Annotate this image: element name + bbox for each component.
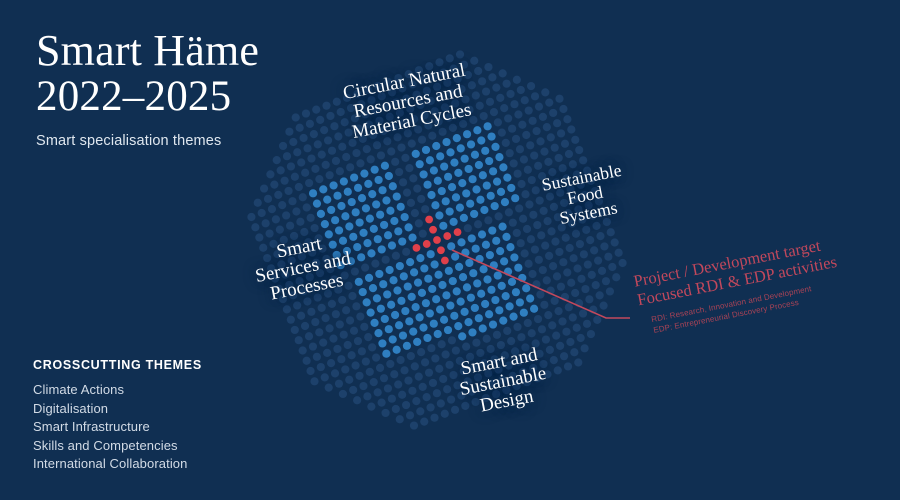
list-item: Digitalisation: [33, 400, 333, 419]
dim-dot: [506, 149, 514, 157]
bright-dot: [497, 188, 505, 196]
dim-dot: [564, 209, 572, 217]
bright-dot: [377, 305, 385, 313]
dim-dot: [346, 316, 354, 324]
dim-dot: [586, 236, 594, 244]
dim-dot: [503, 80, 511, 88]
dim-dot: [328, 300, 336, 308]
dim-dot: [585, 295, 593, 303]
dim-dot: [490, 108, 498, 116]
dim-dot: [468, 388, 476, 396]
bright-dot: [391, 311, 399, 319]
dim-dot: [543, 123, 551, 131]
dim-dot: [554, 307, 562, 315]
dim-dot: [301, 169, 309, 177]
bright-dot: [436, 305, 444, 313]
dim-dot: [564, 362, 572, 370]
dim-dot: [525, 106, 533, 114]
dim-dot: [443, 79, 451, 87]
bright-dot: [359, 288, 367, 296]
dim-dot: [341, 365, 349, 373]
bright-dot: [457, 144, 465, 152]
bright-dot: [325, 230, 333, 238]
bright-dot: [399, 331, 407, 339]
list-item: Skills and Competencies: [33, 437, 333, 456]
bright-dot: [366, 215, 374, 223]
dim-dot: [560, 199, 568, 207]
dim-dot: [573, 170, 581, 178]
dim-dot: [404, 376, 412, 384]
dim-dot: [300, 228, 308, 236]
dim-dot: [384, 78, 392, 86]
bright-dot: [442, 138, 450, 146]
dim-dot: [435, 365, 443, 373]
dim-dot: [402, 401, 410, 409]
bright-dot: [337, 261, 345, 269]
dim-dot: [384, 384, 392, 392]
bright-dot: [435, 211, 443, 219]
dim-dot: [295, 336, 303, 344]
dim-dot: [412, 397, 420, 405]
bright-dot: [463, 283, 471, 291]
dim-dot: [316, 269, 324, 277]
bright-dot: [373, 294, 381, 302]
dim-dot: [348, 351, 356, 359]
dim-dot: [335, 380, 343, 388]
bright-dot: [412, 303, 420, 311]
dim-dot: [369, 131, 377, 139]
dim-dot: [604, 253, 612, 261]
dim-dot: [307, 154, 315, 162]
bright-dot: [462, 189, 470, 197]
dim-dot: [393, 133, 401, 141]
dim-dot: [427, 97, 435, 105]
bright-dot: [431, 201, 439, 209]
dim-dot: [367, 155, 375, 163]
bright-dot: [522, 284, 530, 292]
dim-dot: [581, 285, 589, 293]
bright-dot: [472, 185, 480, 193]
bright-dot: [502, 233, 510, 241]
dim-dot: [552, 332, 560, 340]
dim-dot: [420, 418, 428, 426]
dim-dot: [289, 291, 297, 299]
dim-dot: [543, 276, 551, 284]
bright-dot: [459, 273, 467, 281]
dim-dot: [322, 255, 330, 263]
dim-dot: [305, 332, 313, 340]
dim-dot: [425, 369, 433, 377]
dim-dot: [544, 311, 552, 319]
bright-dot: [378, 245, 386, 253]
dim-dot: [394, 74, 402, 82]
dim-dot: [413, 185, 421, 193]
bright-dot: [472, 245, 480, 253]
bright-dot: [450, 312, 458, 320]
bright-dot: [487, 192, 495, 200]
bright-dot: [401, 213, 409, 221]
dim-dot: [484, 216, 492, 224]
dim-dot: [292, 267, 300, 275]
dim-dot: [522, 131, 530, 139]
dim-dot: [421, 358, 429, 366]
dim-dot: [429, 379, 437, 387]
dim-dot: [431, 354, 439, 362]
dim-dot: [570, 254, 578, 262]
dim-dot: [482, 394, 490, 402]
dim-dot: [435, 58, 443, 66]
bright-dot: [403, 342, 411, 350]
dim-dot: [307, 308, 315, 316]
dim-dot: [521, 343, 529, 351]
dim-dot: [288, 197, 296, 205]
dim-dot: [297, 312, 305, 320]
dim-dot: [415, 219, 423, 227]
dim-dot: [307, 214, 315, 222]
dim-dot: [439, 68, 447, 76]
dim-dot: [592, 222, 600, 230]
bright-dot: [350, 173, 358, 181]
bright-dot: [506, 302, 514, 310]
crosscutting-themes-heading: CROSSCUTTING THEMES: [33, 358, 333, 372]
dim-dot: [474, 373, 482, 381]
dim-dot: [378, 92, 386, 100]
dim-dot: [528, 329, 536, 337]
dim-dot: [602, 277, 610, 285]
dim-dot: [583, 167, 591, 175]
dim-dot: [521, 249, 529, 257]
bright-dot: [416, 160, 424, 168]
dim-dot: [521, 190, 529, 198]
bright-dot: [496, 247, 504, 255]
dim-dot: [492, 84, 500, 92]
dim-dot: [356, 159, 364, 167]
dim-dot: [287, 316, 295, 324]
dim-dot: [498, 376, 506, 384]
bright-dot: [354, 184, 362, 192]
dim-dot: [390, 123, 398, 131]
dim-dot: [456, 357, 464, 365]
dim-dot: [298, 252, 306, 260]
dim-dot: [549, 262, 557, 270]
dim-dot: [299, 346, 307, 354]
dim-dot: [514, 110, 522, 118]
dim-dot: [524, 166, 532, 174]
bright-dot: [389, 182, 397, 190]
dim-dot: [354, 337, 362, 345]
dim-dot: [363, 392, 371, 400]
dim-dot: [517, 239, 525, 247]
dim-dot: [468, 81, 476, 89]
dim-dot: [441, 103, 449, 111]
dim-dot: [575, 146, 583, 154]
dim-dot: [346, 163, 354, 171]
bright-dot: [345, 222, 353, 230]
bright-dot: [440, 162, 448, 170]
dim-dot: [407, 352, 415, 360]
dim-dot: [553, 272, 561, 280]
dim-dot: [437, 399, 445, 407]
dim-dot: [513, 229, 521, 237]
accent-dot: [413, 244, 421, 252]
dim-dot: [449, 124, 457, 132]
bright-dot: [480, 206, 488, 214]
dim-dot: [579, 309, 587, 317]
dim-dot: [513, 382, 521, 390]
accent-dot: [429, 226, 437, 234]
bright-dot: [512, 288, 520, 296]
dim-dot: [270, 181, 278, 189]
dim-dot: [452, 346, 460, 354]
dim-dot: [500, 104, 508, 112]
dim-dot: [293, 148, 301, 156]
dim-dot: [292, 207, 300, 215]
dim-dot: [419, 383, 427, 391]
bright-dot: [348, 198, 356, 206]
dim-dot: [545, 252, 553, 260]
bright-dot: [477, 136, 485, 144]
bright-dot: [481, 147, 489, 155]
bright-dot: [367, 309, 375, 317]
accent-dot: [433, 236, 441, 244]
dim-dot: [529, 211, 537, 219]
dim-dot: [506, 90, 514, 98]
dim-dot: [333, 345, 341, 353]
bright-dot: [498, 223, 506, 231]
bright-dot: [327, 206, 335, 214]
dim-dot: [573, 324, 581, 332]
bright-dot: [461, 155, 469, 163]
dim-dot: [577, 181, 585, 189]
dim-dot: [352, 149, 360, 157]
bright-dot: [408, 293, 416, 301]
dim-dot: [414, 125, 422, 133]
bright-dot: [447, 242, 455, 250]
bright-dot: [460, 308, 468, 316]
dim-dot: [460, 367, 468, 375]
dim-dot: [429, 72, 437, 80]
dim-dot: [255, 233, 263, 241]
dim-dot: [295, 277, 303, 285]
dim-dot: [415, 66, 423, 74]
bright-dot: [457, 298, 465, 306]
dim-dot: [284, 246, 292, 254]
bright-dot: [468, 175, 476, 183]
bright-dot: [495, 306, 503, 314]
dim-dot: [547, 227, 555, 235]
dim-dot: [386, 113, 394, 121]
bright-dot: [450, 218, 458, 226]
dim-dot: [264, 195, 272, 203]
dim-dot: [301, 322, 309, 330]
dim-dot: [309, 342, 317, 350]
bright-dot: [511, 194, 519, 202]
dim-dot: [340, 271, 348, 279]
dim-dot: [559, 105, 567, 113]
bright-dot: [500, 257, 508, 265]
dim-dot: [556, 189, 564, 197]
dim-dot: [557, 129, 565, 137]
bright-dot: [333, 192, 341, 200]
dim-dot: [474, 67, 482, 75]
dim-dot: [297, 158, 305, 166]
bright-dot: [438, 187, 446, 195]
dim-dot: [494, 118, 502, 126]
bright-dot: [371, 166, 379, 174]
bright-dot: [422, 146, 430, 154]
dim-dot: [539, 266, 547, 274]
dim-dot: [360, 323, 368, 331]
dim-dot: [510, 100, 518, 108]
dim-dot: [410, 115, 418, 123]
dim-dot: [579, 156, 587, 164]
dim-dot: [378, 399, 386, 407]
dim-dot: [565, 150, 573, 158]
bright-dot: [436, 152, 444, 160]
dim-dot: [512, 135, 520, 143]
dim-dot: [496, 94, 504, 102]
bright-dot: [343, 247, 351, 255]
bright-dot: [483, 181, 491, 189]
dim-dot: [428, 132, 436, 140]
dim-dot: [401, 154, 409, 162]
dim-dot: [286, 222, 294, 230]
bright-dot: [464, 318, 472, 326]
dim-dot: [411, 209, 419, 217]
bright-dot: [349, 233, 357, 241]
bright-dot: [430, 320, 438, 328]
bright-dot: [457, 238, 465, 246]
dim-dot: [461, 402, 469, 410]
dim-dot: [283, 305, 291, 313]
dim-dot: [540, 148, 548, 156]
dim-dot: [361, 263, 369, 271]
bright-dot: [449, 277, 457, 285]
bright-dot: [331, 216, 339, 224]
dim-dot: [388, 395, 396, 403]
dim-dot: [543, 217, 551, 225]
dim-dot: [529, 364, 537, 372]
dim-dot: [332, 157, 340, 165]
bright-dot: [339, 237, 347, 245]
dim-dot: [549, 109, 557, 117]
bright-dot: [499, 163, 507, 171]
bright-dot: [376, 211, 384, 219]
dim-dot: [498, 129, 506, 137]
dim-dot: [375, 117, 383, 125]
dim-dot: [303, 203, 311, 211]
dim-dot: [356, 312, 364, 320]
dim-dot: [464, 377, 472, 385]
dim-dot: [521, 96, 529, 104]
dim-dot: [470, 57, 478, 65]
dim-dot: [571, 136, 579, 144]
bright-dot: [406, 258, 414, 266]
bright-dot: [426, 309, 434, 317]
bright-dot: [415, 313, 423, 321]
dim-dot: [455, 110, 463, 118]
dim-dot: [567, 125, 575, 133]
bright-dot: [440, 316, 448, 324]
bright-dot: [498, 282, 506, 290]
dim-dot: [488, 73, 496, 81]
dim-dot: [430, 414, 438, 422]
bright-dot: [405, 317, 413, 325]
bright-dot: [453, 287, 461, 295]
dim-dot: [536, 196, 544, 204]
dim-dot: [546, 193, 554, 201]
dim-dot: [342, 153, 350, 161]
dim-dot: [376, 364, 384, 372]
dim-dot: [559, 258, 567, 266]
dim-dot: [487, 345, 495, 353]
dim-dot: [303, 297, 311, 305]
dim-dot: [528, 176, 536, 184]
dim-dot: [497, 341, 505, 349]
dim-dot: [373, 141, 381, 149]
bright-dot: [364, 180, 372, 188]
dim-dot: [574, 205, 582, 213]
dim-dot: [277, 166, 285, 174]
dim-dot: [445, 361, 453, 369]
dim-dot: [247, 213, 255, 221]
dim-dot: [581, 191, 589, 199]
bright-dot: [356, 218, 364, 226]
bright-dot: [465, 165, 473, 173]
dim-dot: [450, 65, 458, 73]
dim-dot: [302, 263, 310, 271]
dim-dot: [596, 232, 604, 240]
bright-dot: [488, 226, 496, 234]
dim-dot: [459, 120, 467, 128]
dim-dot: [273, 250, 281, 258]
accent-dot: [454, 228, 462, 236]
dim-dot: [408, 387, 416, 395]
bright-dot: [394, 227, 402, 235]
bright-dot: [317, 210, 325, 218]
bright-dot: [375, 270, 383, 278]
bright-dot: [478, 230, 486, 238]
dim-dot: [351, 267, 359, 275]
bright-dot: [359, 229, 367, 237]
dim-dot: [545, 99, 553, 107]
dim-dot: [510, 159, 518, 167]
dim-dot: [251, 223, 259, 231]
dim-dot: [581, 344, 589, 352]
bright-dot: [323, 196, 331, 204]
dim-dot: [590, 246, 598, 254]
dim-dot: [509, 372, 517, 380]
bright-dot: [489, 320, 497, 328]
dim-dot: [454, 75, 462, 83]
dim-dot: [433, 83, 441, 91]
bright-dot: [491, 143, 499, 151]
bright-dot: [432, 295, 440, 303]
dim-dot: [423, 393, 431, 401]
dim-dot: [400, 119, 408, 127]
dim-dot: [262, 219, 270, 227]
bright-dot: [465, 259, 473, 267]
dim-dot: [399, 178, 407, 186]
dim-dot: [287, 162, 295, 170]
dim-dot: [392, 98, 400, 106]
dim-dot: [338, 296, 346, 304]
dim-dot: [540, 301, 548, 309]
bright-dot: [329, 181, 337, 189]
bright-dot: [475, 161, 483, 169]
dim-dot: [259, 244, 267, 252]
dim-dot: [541, 242, 549, 250]
